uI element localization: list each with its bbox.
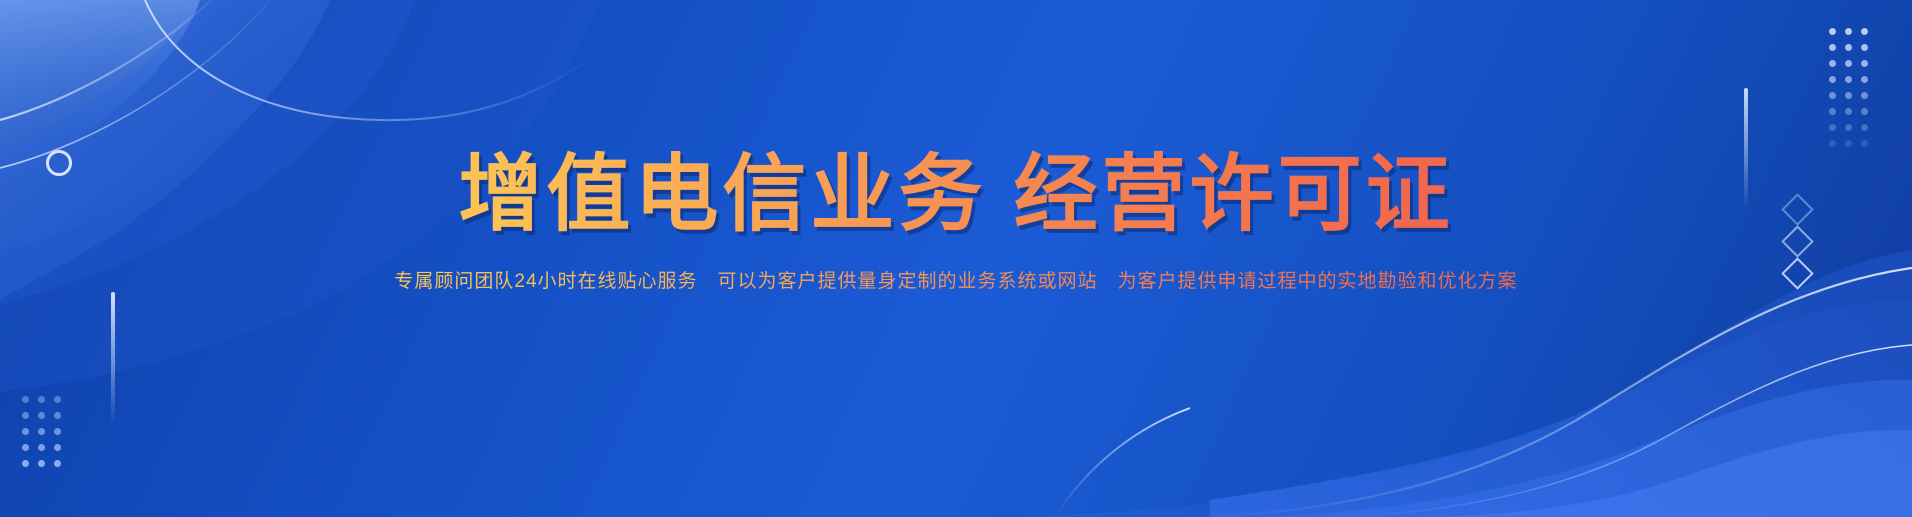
banner-subtitle: 专属顾问团队24小时在线贴心服务 可以为客户提供量身定制的业务系统或网站 为客户… [0, 236, 1912, 291]
dot-grid-icon [22, 396, 61, 467]
vertical-bar-icon [111, 292, 115, 424]
banner-text-block: 增值电信业务 经营许可证 专属顾问团队24小时在线贴心服务 可以为客户提供量身定… [0, 0, 1912, 291]
promo-banner: 增值电信业务 经营许可证 专属顾问团队24小时在线贴心服务 可以为客户提供量身定… [0, 0, 1912, 517]
page-title: 增值电信业务 经营许可证 [0, 0, 1912, 236]
